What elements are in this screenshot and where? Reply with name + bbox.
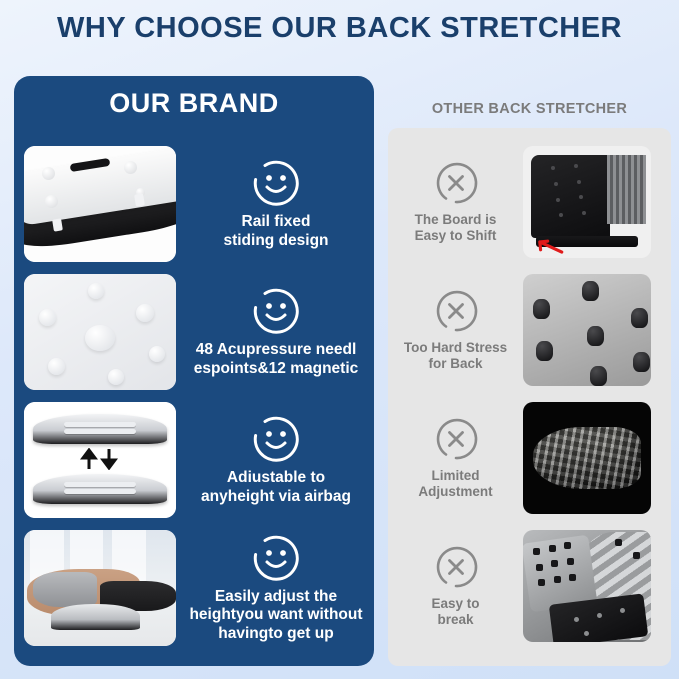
other-brand-heading: OTHER BACK STRETCHER: [388, 101, 671, 117]
red-arrow-icon: [531, 238, 564, 254]
brand-feature-4: Easily adjust the heightyou want without…: [178, 533, 374, 643]
x-circle-icon: [433, 416, 479, 462]
up-down-arrows-icon: [79, 448, 123, 470]
fixed-arch-roller-photo: [523, 402, 651, 514]
brand-feature-3: Adiustable to anyheight via airbag: [178, 414, 374, 506]
brand-feature-1: Rail fixed stiding design: [178, 158, 374, 250]
smiley-icon: [251, 158, 301, 208]
other-feature-label: Too Hard Stress for Back: [404, 340, 507, 372]
adjustable-height-arrows-photo: [24, 402, 176, 518]
other-feature-row: Too Hard Stress for Back: [388, 268, 671, 392]
smiley-icon: [251, 286, 301, 336]
brand-feature-row: 48 Acupressure needl espoints&12 magneti…: [14, 270, 374, 394]
other-feature-row: The Board is Easy to Shift: [388, 140, 671, 264]
brand-feature-label: 48 Acupressure needl espoints&12 magneti…: [194, 341, 359, 378]
our-brand-heading: OUR BRAND: [14, 88, 374, 119]
other-feature-row: Limited Adjustment: [388, 396, 671, 520]
smiley-icon: [251, 414, 301, 464]
black-board-shifting-photo: [523, 146, 651, 258]
page-title: WHY CHOOSE OUR BACK STRETCHER: [0, 12, 679, 45]
brand-feature-row: Rail fixed stiding design: [14, 142, 374, 266]
brand-feature-label: Rail fixed stiding design: [223, 213, 328, 250]
x-circle-icon: [433, 288, 479, 334]
brand-feature-row: Easily adjust the heightyou want without…: [14, 526, 374, 650]
brand-feature-2: 48 Acupressure needl espoints&12 magneti…: [178, 286, 374, 378]
other-feature-label: The Board is Easy to Shift: [415, 212, 497, 244]
brand-feature-label: Adiustable to anyheight via airbag: [201, 469, 351, 506]
other-feature-label: Easy to break: [431, 596, 479, 628]
gray-arch-plate-photo: [523, 530, 651, 642]
hard-knobs-photo: [523, 274, 651, 386]
brand-feature-label: Easily adjust the heightyou want without…: [189, 588, 362, 643]
person-lying-on-stretcher-photo: [24, 530, 176, 646]
white-board-rail-photo: [24, 146, 176, 262]
our-brand-panel: OUR BRAND Rail fixe: [14, 76, 374, 666]
other-feature-3: Limited Adjustment: [388, 416, 523, 500]
x-circle-icon: [433, 544, 479, 590]
acupressure-nodes-photo: [24, 274, 176, 390]
other-brand-panel: The Board is Easy to Shift Too Hard Stre…: [388, 128, 671, 666]
other-feature-4: Easy to break: [388, 544, 523, 628]
other-feature-label: Limited Adjustment: [418, 468, 492, 500]
other-feature-row: Easy to break: [388, 524, 671, 648]
other-feature-2: Too Hard Stress for Back: [388, 288, 523, 372]
smiley-icon: [251, 533, 301, 583]
other-feature-1: The Board is Easy to Shift: [388, 160, 523, 244]
brand-feature-row: Adiustable to anyheight via airbag: [14, 398, 374, 522]
x-circle-icon: [433, 160, 479, 206]
